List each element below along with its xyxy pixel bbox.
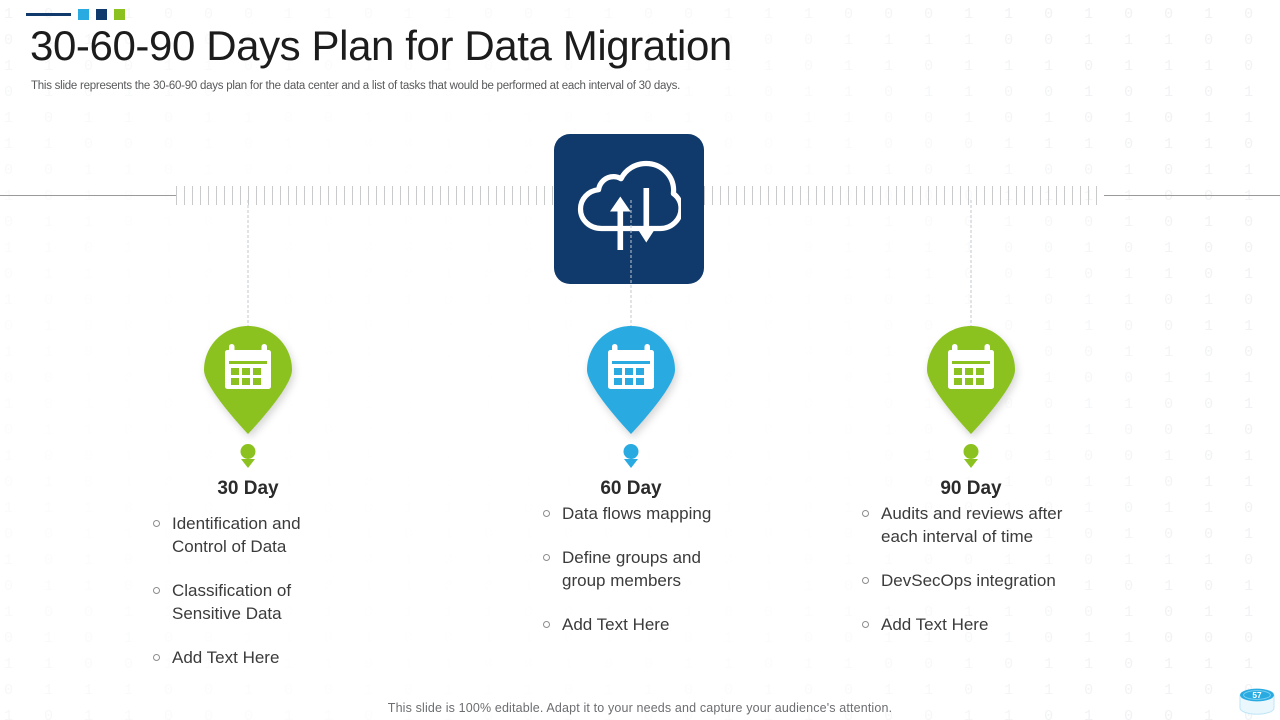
milestone-title: 30 Day [98, 478, 398, 500]
database-cylinder-icon: 57 [1236, 686, 1278, 716]
timeline-axis-right [1104, 195, 1280, 196]
map-pin-marker [202, 326, 294, 436]
milestone-task-list: Audits and reviews after each interval o… [862, 502, 1087, 657]
decoration-square-navy [96, 9, 107, 20]
milestone-dot [964, 444, 979, 459]
decoration-square-green [114, 9, 125, 20]
slide-canvas: 1 0 1 1 0 0 0 1 1 0 1 1 0 0 1 1 0 0 1 1 … [0, 0, 1280, 720]
milestone-dot [624, 444, 639, 459]
list-item: Classification of Sensitive Data [153, 579, 338, 625]
list-item: Identification and Control of Data [153, 512, 338, 558]
milestone-connector-line [971, 200, 972, 333]
milestone-arrow [241, 459, 255, 468]
list-item: DevSecOps integration [862, 569, 1087, 592]
list-item: Define groups and group members [543, 546, 733, 592]
page-title: 30-60-90 Days Plan for Data Migration [30, 21, 732, 71]
map-pin-marker [585, 326, 677, 436]
list-item: Add Text Here [543, 613, 733, 636]
list-item: Add Text Here [862, 613, 1087, 636]
page-subtitle: This slide represents the 30-60-90 days … [31, 80, 680, 92]
decoration-line [26, 13, 71, 16]
milestone-pin-group [202, 326, 294, 466]
map-pin-marker [925, 326, 1017, 436]
milestone-title: 60 Day [481, 478, 781, 500]
milestone-task-list: Data flows mapping Define groups and gro… [543, 502, 733, 657]
list-item: Data flows mapping [543, 502, 733, 525]
milestone-dot [241, 444, 256, 459]
database-cylinder-badge: 57 [1236, 686, 1278, 716]
milestone-connector-line [248, 200, 249, 333]
cloud-data-transfer-badge [554, 134, 704, 284]
milestone-title: 90 Day [821, 478, 1121, 500]
milestone-pin-group [925, 326, 1017, 466]
milestone-task-list: Identification and Control of Data Class… [153, 512, 338, 690]
timeline-axis-left [0, 195, 176, 196]
milestone-arrow [624, 459, 638, 468]
footer-note: This slide is 100% editable. Adapt it to… [0, 701, 1280, 715]
header-decoration [26, 8, 125, 20]
list-item: Audits and reviews after each interval o… [862, 502, 1087, 548]
cloud-data-transfer-icon [577, 160, 681, 258]
decoration-square-cyan [78, 9, 89, 20]
list-item: Add Text Here [153, 646, 338, 669]
milestone-pin-group [585, 326, 677, 466]
badge-label: 57 [1252, 690, 1262, 700]
milestone-arrow [964, 459, 978, 468]
milestone-connector-line [631, 200, 632, 333]
